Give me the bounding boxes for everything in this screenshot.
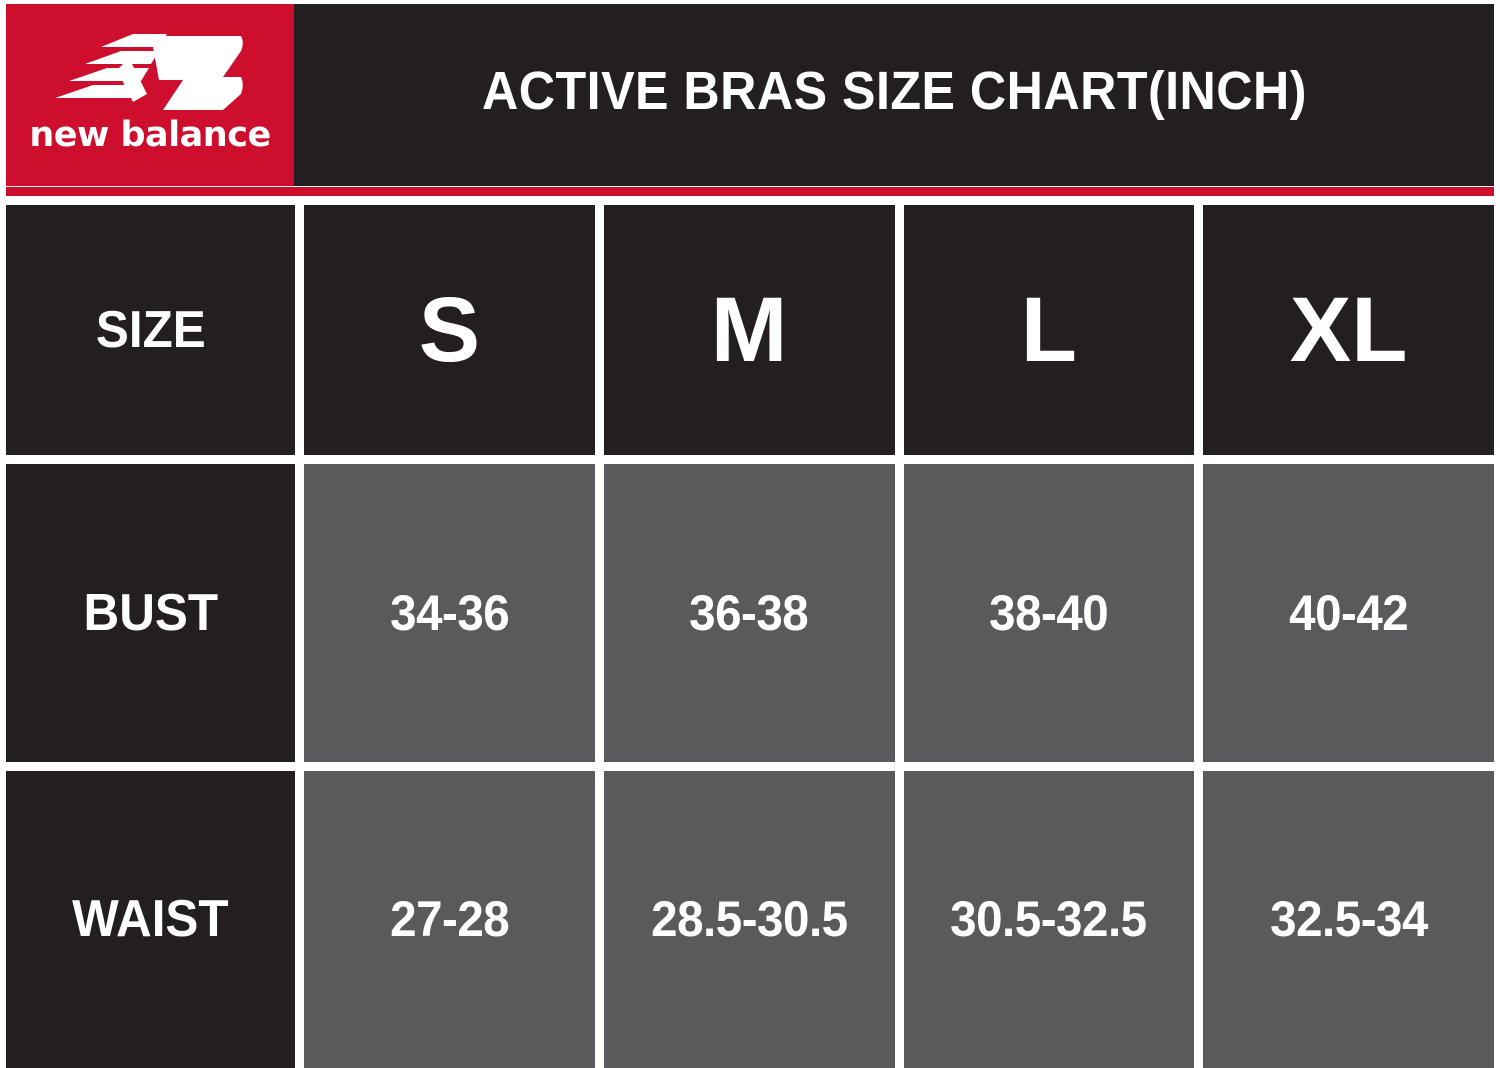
size-label-xl: XL — [1290, 284, 1408, 376]
row-label-cell-bust: BUST — [6, 464, 295, 762]
header-cell-m: M — [604, 205, 895, 455]
size-label-m: M — [711, 284, 788, 376]
value-waist-l: 30.5-32.5 — [951, 890, 1147, 948]
value-cell-waist-m: 28.5-30.5 — [604, 771, 895, 1068]
table-header-row: SIZE S M L XL — [6, 205, 1494, 455]
value-bust-m: 36-38 — [690, 584, 809, 642]
value-bust-xl: 40-42 — [1289, 584, 1408, 642]
value-cell-waist-s: 27-28 — [304, 771, 595, 1068]
size-label-l: L — [1021, 284, 1077, 376]
chart-title: ACTIVE BRAS SIZE CHART(INCH) — [482, 60, 1307, 122]
size-table: SIZE S M L XL BUST 34-36 36-38 — [6, 205, 1494, 1068]
value-cell-bust-m: 36-38 — [604, 464, 895, 762]
value-cell-bust-s: 34-36 — [304, 464, 595, 762]
value-waist-s: 27-28 — [390, 890, 509, 948]
header-cell-size: SIZE — [6, 205, 295, 455]
value-cell-bust-l: 38-40 — [904, 464, 1195, 762]
value-cell-bust-xl: 40-42 — [1203, 464, 1494, 762]
value-bust-s: 34-36 — [390, 584, 509, 642]
size-label-s: S — [419, 284, 480, 376]
table-row-bust: BUST 34-36 36-38 38-40 40-42 — [6, 464, 1494, 762]
header-cell-s: S — [304, 205, 595, 455]
value-waist-m: 28.5-30.5 — [651, 890, 847, 948]
value-cell-waist-xl: 32.5-34 — [1203, 771, 1494, 1068]
accent-rule — [6, 187, 1494, 196]
size-chart-root: new balance ACTIVE BRAS SIZE CHART(INCH)… — [0, 0, 1500, 1068]
row-label-cell-waist: WAIST — [6, 771, 295, 1068]
value-bust-l: 38-40 — [989, 584, 1108, 642]
table-row-waist: WAIST 27-28 28.5-30.5 30.5-32.5 32.5-34 — [6, 771, 1494, 1068]
row-label-waist: WAIST — [72, 889, 228, 949]
brand-wordmark: new balance — [29, 118, 270, 153]
chart-header-band: new balance ACTIVE BRAS SIZE CHART(INCH) — [6, 4, 1494, 186]
header-label-size: SIZE — [96, 300, 206, 360]
header-cell-xl: XL — [1203, 205, 1494, 455]
nb-flying-n-logo-icon — [55, 32, 245, 114]
brand-logo-block: new balance — [6, 4, 294, 186]
chart-title-block: ACTIVE BRAS SIZE CHART(INCH) — [294, 4, 1494, 186]
row-label-bust: BUST — [83, 583, 217, 643]
header-cell-l: L — [904, 205, 1195, 455]
value-waist-xl: 32.5-34 — [1270, 890, 1428, 948]
value-cell-waist-l: 30.5-32.5 — [904, 771, 1195, 1068]
